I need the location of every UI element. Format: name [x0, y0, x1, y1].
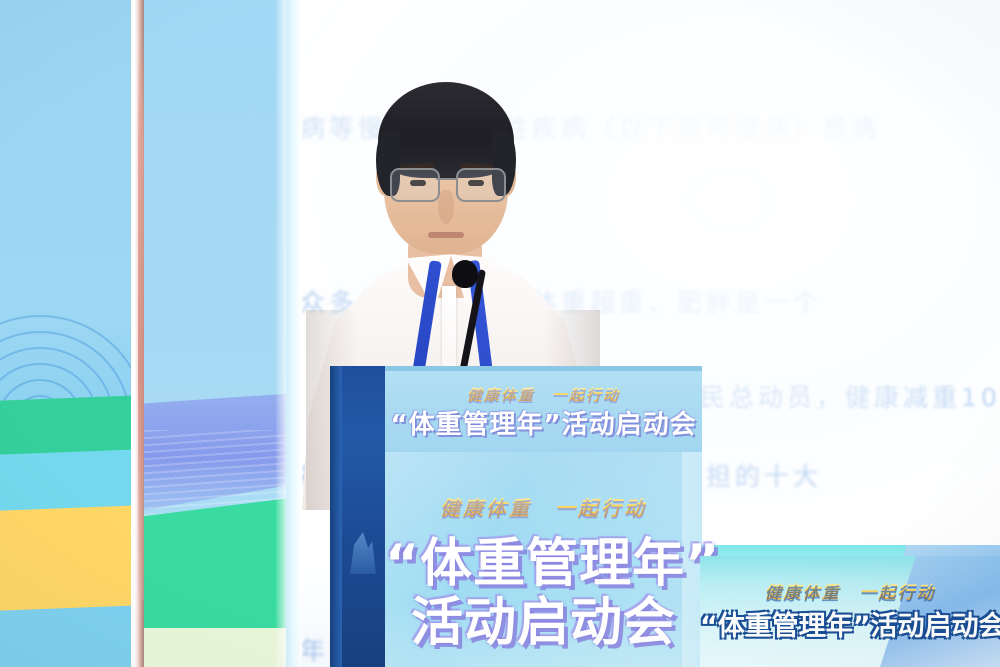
- decor-band-blue: [0, 605, 131, 667]
- podium-top-slogan: 健康体重 一起行动: [385, 384, 702, 405]
- glasses-bridge: [436, 178, 458, 180]
- podium-top-title: “体重管理年”活动启动会: [385, 404, 702, 441]
- slide-line-lower: 民总动员，健康减重10: [700, 378, 1000, 414]
- corner-banner-title: “体重管理年”活动启动会: [700, 604, 1000, 643]
- decor-band-yellow: [0, 505, 131, 617]
- glasses-lens-right: [456, 168, 506, 202]
- conference-photo-scene: 病等慢性非传染性疾病（以下简称慢病）患病 众多危险因素中，体重超重、肥胖是一个 …: [0, 0, 1000, 667]
- podium-top-edge: [330, 366, 702, 371]
- microphone-icon: [452, 260, 478, 288]
- decor-panel-left: [0, 0, 131, 667]
- podium-front-slogan: 健康体重 一起行动: [385, 492, 702, 521]
- decor-band-pale: [144, 628, 286, 667]
- corner-banner-slogan: 健康体重 一起行动: [700, 578, 1000, 603]
- glasses-lens-left: [390, 168, 440, 202]
- nose: [438, 190, 454, 224]
- decor-band-green-2: [144, 495, 286, 635]
- podium-front-title-line2: 活动启动会: [385, 580, 702, 655]
- corner-banner: 健康体重 一起行动 “体重管理年”活动启动会: [700, 556, 1000, 667]
- podium: 健康体重 一起行动 “体重管理年”活动启动会 健康体重 一起行动 “体重管理年”…: [330, 366, 702, 667]
- mouth: [428, 232, 464, 238]
- podium-left-edge: [330, 366, 342, 667]
- decor-panel-middle: [144, 0, 286, 667]
- decor-band-green: [0, 395, 131, 459]
